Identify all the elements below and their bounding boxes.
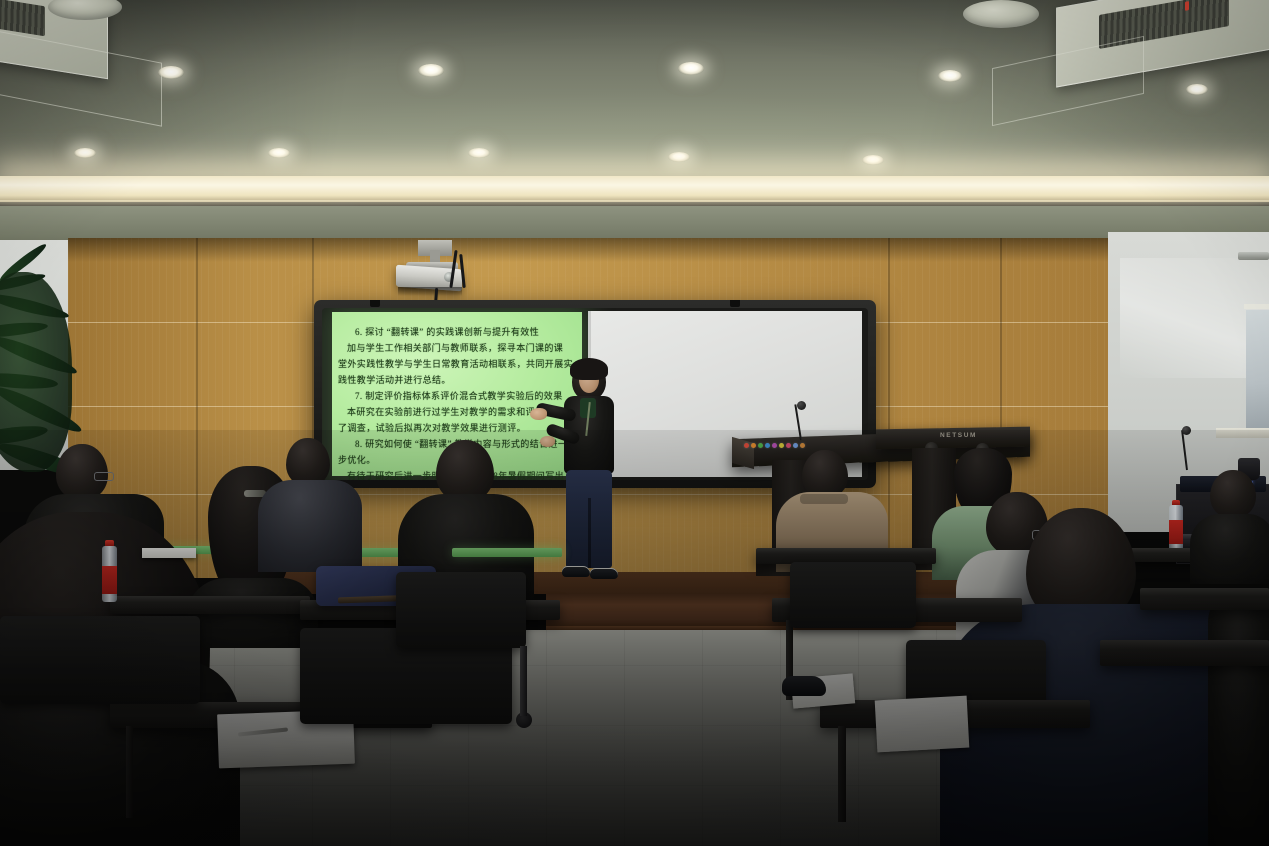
downlight-2 (418, 64, 444, 77)
podium-button-2[interactable] (751, 443, 756, 448)
attendee-grey-suit-body (258, 480, 362, 572)
cove-light-strip (0, 176, 1269, 202)
podium-button-5[interactable] (772, 443, 777, 448)
chair-post-left (520, 646, 527, 716)
board-clip-right (730, 300, 740, 307)
podium-button-8[interactable] (793, 443, 798, 448)
podium-button-7[interactable] (786, 443, 791, 448)
ac-grill-left (0, 0, 45, 36)
rack-mic-head (1182, 426, 1191, 435)
slide-line-1: 6. 探讨 “翻转课” 的实践课创新与提升有效性 (338, 326, 578, 339)
attendee-grey-suit (254, 438, 366, 570)
chair-right-mid[interactable] (790, 562, 916, 628)
attendee-beige-coat-head (802, 450, 848, 498)
downlight-7 (268, 148, 290, 158)
downlight-5 (1186, 84, 1208, 95)
presenter-hair (570, 358, 608, 380)
downlight-3 (678, 62, 704, 75)
presenter-leg-gap (588, 498, 591, 568)
wall-top-shadow (68, 238, 1110, 278)
slide-line-2: 加与学生工作相关部门与教师联系，探寻本门课的课 (338, 342, 578, 355)
palm-mass (0, 272, 72, 472)
board-clip-left (370, 300, 380, 307)
downlight-4 (938, 70, 962, 82)
attendee-far-right (1208, 588, 1269, 846)
attendee-left-glasses-eyewear (94, 472, 114, 481)
downlight-6 (74, 148, 96, 158)
desk-leg-front-left (126, 726, 133, 818)
downlight-1 (158, 66, 184, 79)
ac-indicator-led (1185, 1, 1189, 11)
attendee-grey-suit-head (286, 438, 330, 486)
podium-button-3[interactable] (758, 443, 763, 448)
podium-button-9[interactable] (800, 443, 805, 448)
water-bottle-left (100, 540, 118, 602)
attendee-back-right (1196, 470, 1269, 580)
desk-far-right-2 (1100, 640, 1269, 666)
presenter-hand-left (530, 408, 547, 420)
chair-mid-left[interactable] (396, 572, 526, 648)
downlight-9 (668, 152, 690, 162)
presenter-hand-right (540, 436, 555, 447)
presenter-shoe-right (590, 568, 618, 579)
attendee-shoe-right (782, 676, 826, 696)
presenter-shoe-left (562, 566, 590, 577)
attendee-back-right-body (1190, 514, 1269, 584)
desk-far-right-1 (1140, 588, 1269, 610)
attendee-back-right-head (1210, 470, 1256, 518)
presenter (534, 360, 630, 598)
window-frame-top (1244, 304, 1269, 309)
podium-button-6[interactable] (779, 443, 784, 448)
ceiling-speaker-right (963, 0, 1039, 28)
podium-button-4[interactable] (765, 443, 770, 448)
attendee-center-bald-head (436, 440, 494, 502)
papers-front-right (875, 696, 970, 753)
bottle-label-left (102, 566, 117, 594)
window-ledge (1216, 428, 1269, 438)
attendee-beige-coat-collar (800, 494, 848, 504)
downlight-8 (468, 148, 490, 158)
downlight-10 (862, 155, 884, 165)
classroom-photo: 6. 探讨 “翻转课” 的实践课创新与提升有效性 加与学生工作相关部门与教师联系… (0, 0, 1269, 846)
desk-leg-front-right (838, 726, 846, 822)
chair-row3-left[interactable] (0, 616, 200, 704)
projector-shadow (398, 287, 462, 296)
podium-button-1[interactable] (744, 443, 749, 448)
desk-row2-left (110, 596, 310, 614)
podium-button-row[interactable] (744, 443, 805, 448)
window-pane (1246, 310, 1269, 432)
console-brand-label: NETSUM (940, 432, 977, 439)
podium-mic-head (797, 401, 806, 410)
desk-green-row2 (452, 548, 562, 557)
paper-row2-left (142, 548, 196, 558)
